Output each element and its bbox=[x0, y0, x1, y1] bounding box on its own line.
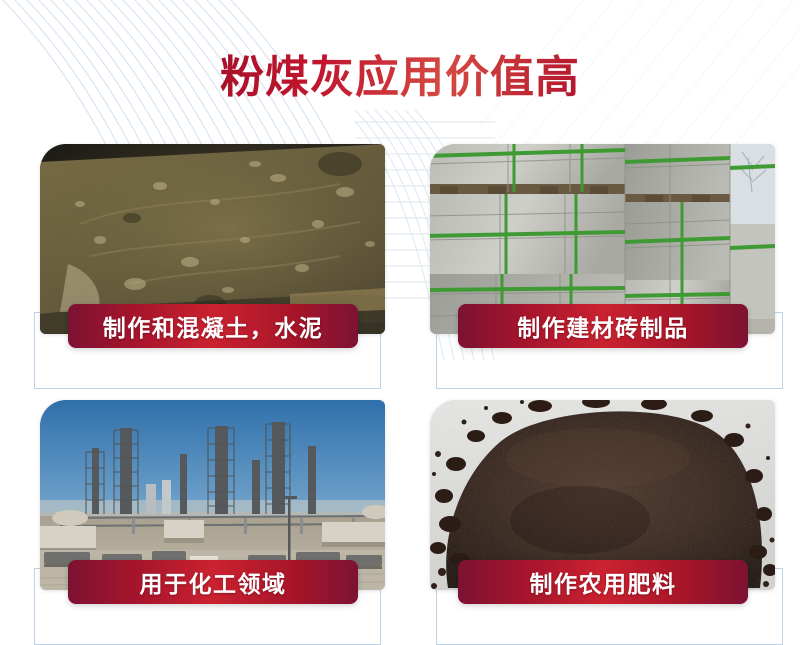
poster-canvas: 粉煤灰应用价值高 bbox=[0, 0, 800, 645]
card-label-text: 用于化工领域 bbox=[140, 565, 287, 599]
card-label-text: 制作和混凝土，水泥 bbox=[103, 309, 324, 343]
application-card[interactable]: 制作建材砖制品 bbox=[430, 144, 775, 376]
card-label-text: 制作建材砖制品 bbox=[517, 309, 689, 343]
page-title: 粉煤灰应用价值高 bbox=[220, 53, 580, 102]
application-card[interactable]: 制作农用肥料 bbox=[430, 400, 775, 632]
card-label-pill: 制作和混凝土，水泥 bbox=[68, 304, 358, 348]
poster-title-container: 粉煤灰应用价值高 bbox=[0, 24, 800, 132]
application-card-grid: 制作和混凝土，水泥 bbox=[0, 130, 800, 645]
application-card[interactable]: 制作和混凝土，水泥 bbox=[40, 144, 385, 376]
card-label-pill: 制作农用肥料 bbox=[458, 560, 748, 604]
card-label-pill: 用于化工领域 bbox=[68, 560, 358, 604]
application-card[interactable]: 用于化工领域 bbox=[40, 400, 385, 632]
card-label-text: 制作农用肥料 bbox=[530, 565, 677, 599]
card-label-pill: 制作建材砖制品 bbox=[458, 304, 748, 348]
